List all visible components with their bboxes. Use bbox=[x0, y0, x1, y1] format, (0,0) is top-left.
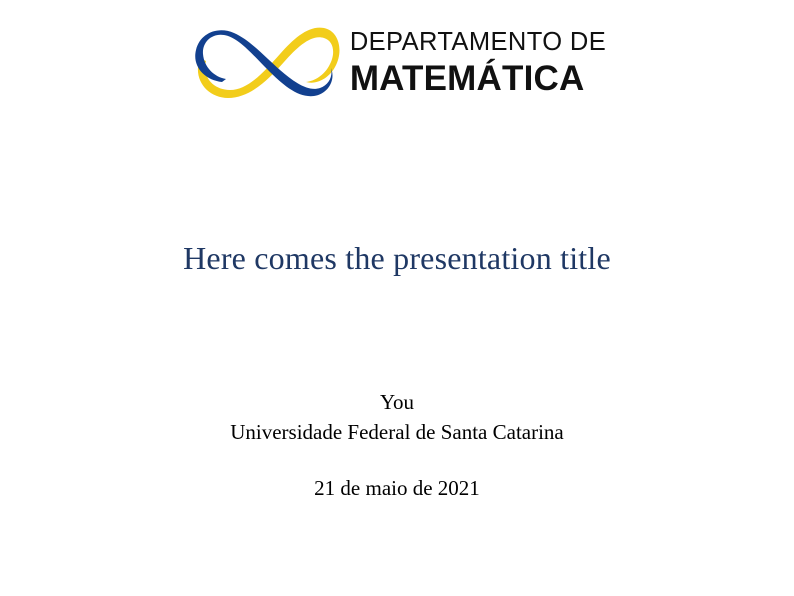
title-slide: DEPARTAMENTO DE MATEMÁTICA Here comes th… bbox=[0, 0, 794, 596]
presentation-date: 21 de maio de 2021 bbox=[0, 473, 794, 503]
department-logo: DEPARTAMENTO DE MATEMÁTICA bbox=[0, 24, 794, 102]
author-name: You bbox=[0, 387, 794, 417]
infinity-ribbon-icon bbox=[188, 24, 340, 102]
page-title: Here comes the presentation title bbox=[0, 240, 794, 277]
logo-line-matematica: MATEMÁTICA bbox=[350, 61, 606, 96]
logo-line-departamento: DEPARTAMENTO DE bbox=[350, 30, 606, 62]
institute-name: Universidade Federal de Santa Catarina bbox=[0, 417, 794, 447]
logo-wordmark: DEPARTAMENTO DE MATEMÁTICA bbox=[350, 30, 606, 97]
title-container: Here comes the presentation title bbox=[0, 240, 794, 277]
credits-container: You Universidade Federal de Santa Catari… bbox=[0, 387, 794, 503]
